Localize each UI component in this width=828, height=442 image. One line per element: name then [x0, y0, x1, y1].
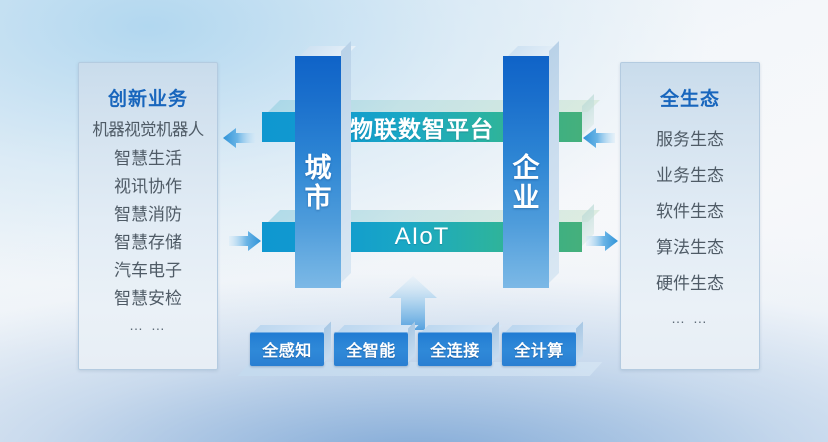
capability-box: 全智能 [334, 332, 408, 366]
panel-list-left: 机器视觉机器人 智慧生活 视讯协作 智慧消防 智慧存储 汽车电子 智慧安检 … … [79, 122, 217, 332]
list-item: 智慧存储 [79, 234, 217, 251]
panel-title-right: 全生态 [621, 84, 759, 111]
panel-list-right: 服务生态 业务生态 软件生态 算法生态 硬件生态 … … [621, 131, 759, 325]
arrow-left-icon [222, 125, 256, 151]
capability-box: 全计算 [502, 332, 576, 366]
list-item: 业务生态 [621, 167, 759, 184]
list-item: 汽车电子 [79, 262, 217, 279]
capability-box: 全感知 [250, 332, 324, 366]
pillar-city: 城 市 [295, 56, 341, 288]
box-top-bevel [422, 325, 503, 332]
box-top-bevel [254, 325, 335, 332]
capability-label: 全连接 [418, 332, 492, 366]
list-item-ellipsis: … … [79, 318, 217, 332]
arrow-right-icon [228, 228, 262, 254]
list-item: 算法生态 [621, 239, 759, 256]
capability-label: 全计算 [502, 332, 576, 366]
diagram-canvas: 创新业务 机器视觉机器人 智慧生活 视讯协作 智慧消防 智慧存储 汽车电子 智慧… [0, 0, 828, 442]
arrow-right-icon [585, 228, 619, 254]
box-top-bevel [506, 325, 587, 332]
capability-row: 全感知 全智能 全连接 全计算 [236, 322, 606, 374]
box-side-bevel [324, 322, 331, 363]
panel-innovative-business: 创新业务 机器视觉机器人 智慧生活 视讯协作 智慧消防 智慧存储 汽车电子 智慧… [78, 62, 218, 370]
pillar-label-char-b: 业 [513, 183, 540, 213]
pillar-side-bevel [549, 41, 559, 283]
list-item: 机器视觉机器人 [79, 122, 217, 139]
box-side-bevel [408, 322, 415, 363]
list-item: 服务生态 [621, 131, 759, 148]
list-item: 智慧安检 [79, 290, 217, 307]
list-item: 软件生态 [621, 203, 759, 220]
list-item: 硬件生态 [621, 275, 759, 292]
list-item: 视讯协作 [79, 178, 217, 195]
pillar-label-char-a: 企 [513, 153, 540, 183]
list-item: 智慧生活 [79, 150, 217, 167]
pillar-label-char-a: 城 [305, 153, 332, 183]
pillar-label: 城 市 [295, 56, 341, 288]
capability-label: 全智能 [334, 332, 408, 366]
list-item: 智慧消防 [79, 206, 217, 223]
panel-title-left: 创新业务 [79, 84, 217, 111]
panel-full-ecosystem: 全生态 服务生态 业务生态 软件生态 算法生态 硬件生态 … … [620, 62, 760, 370]
arrow-left-icon [582, 125, 616, 151]
capability-box: 全连接 [418, 332, 492, 366]
list-item-ellipsis: … … [621, 311, 759, 325]
box-side-bevel [492, 322, 499, 363]
capability-label: 全感知 [250, 332, 324, 366]
box-side-bevel [576, 322, 583, 363]
pillar-label: 企 业 [503, 56, 549, 288]
pillar-enterprise: 企 业 [503, 56, 549, 288]
pillar-label-char-b: 市 [305, 183, 332, 213]
pillar-side-bevel [341, 41, 351, 283]
box-top-bevel [338, 325, 419, 332]
